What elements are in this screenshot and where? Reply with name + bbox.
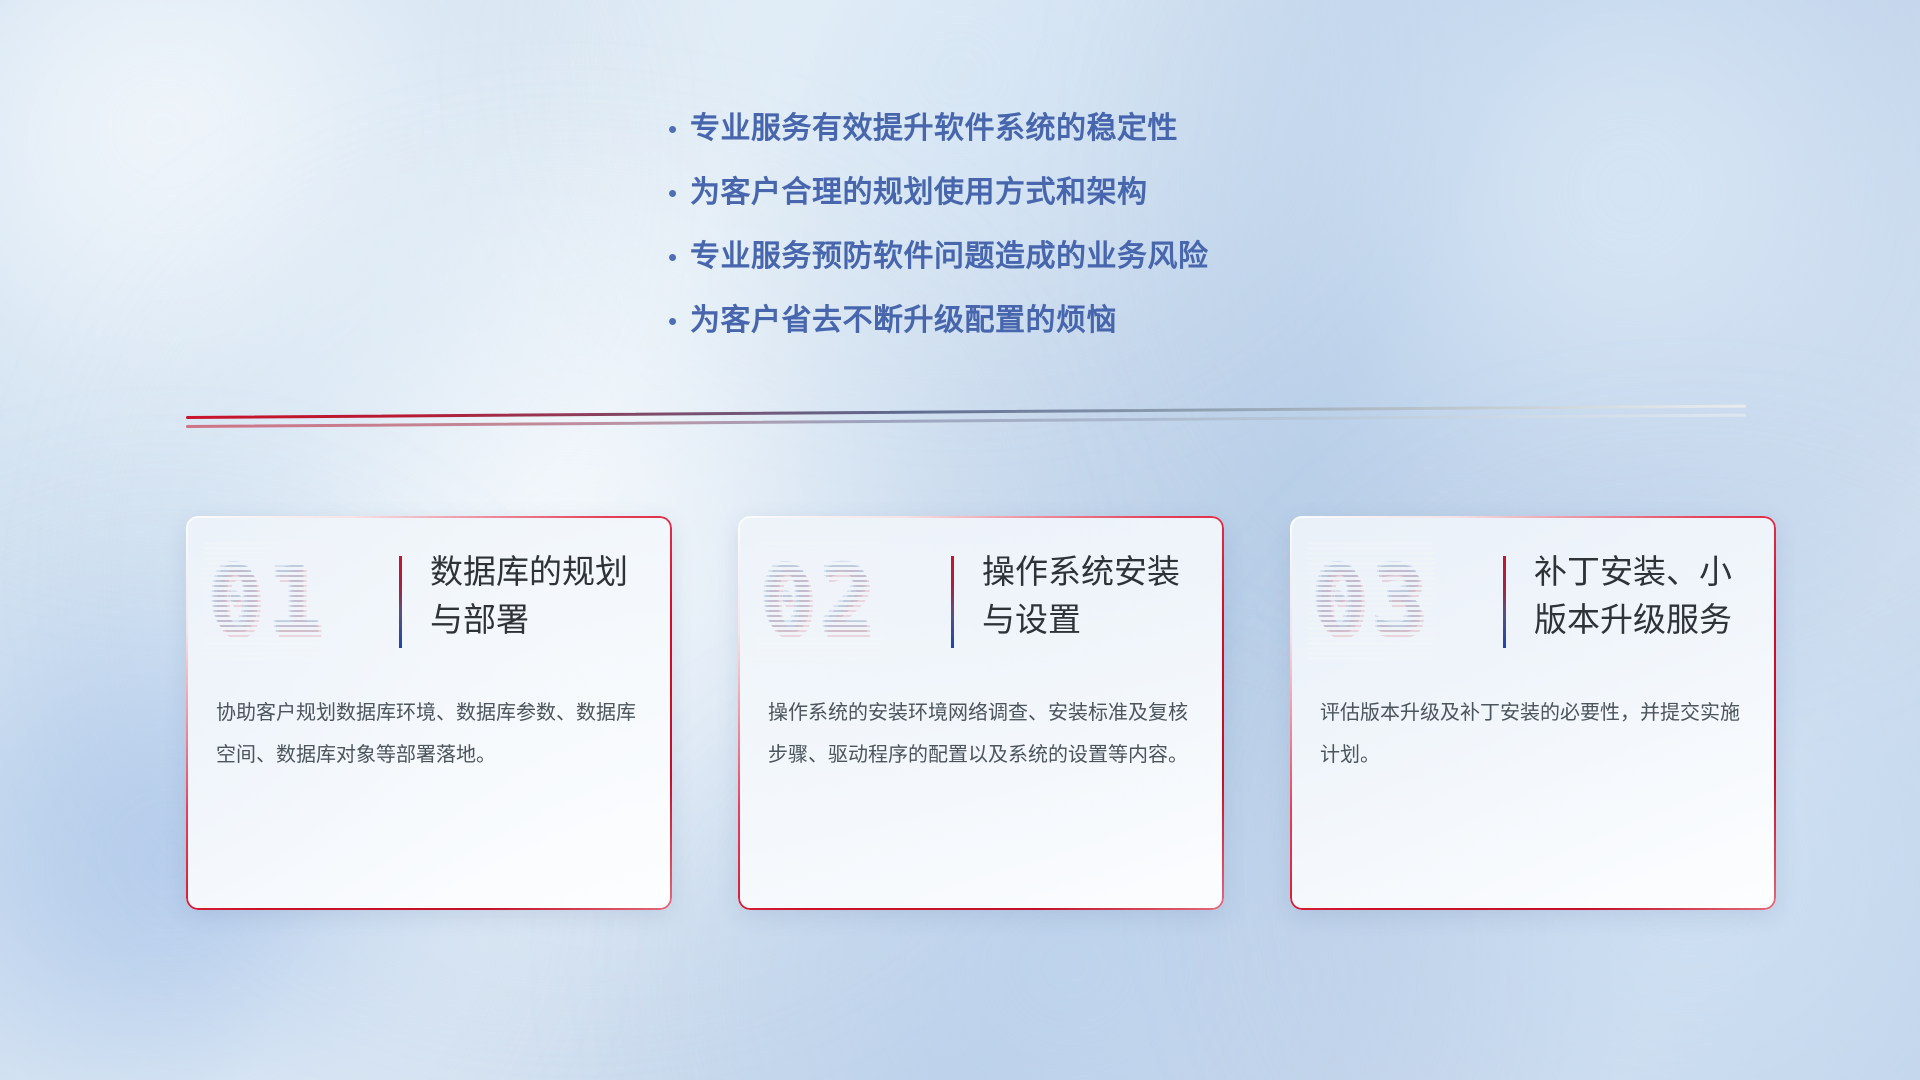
list-item: • 专业服务有效提升软件系统的稳定性 <box>668 112 1468 146</box>
card-number-03: 03 03 03 <box>1312 546 1431 656</box>
service-card-02[interactable]: 02 02 02 操作系统安装与设置 操作系统的安装环境网络调查、安装标准及复核… <box>738 516 1224 910</box>
card-title: 补丁安装、小版本升级服务 <box>1534 548 1760 644</box>
bullet-point-icon: • <box>668 240 690 274</box>
bullet-item-label: 专业服务预防软件问题造成的业务风险 <box>690 240 1209 274</box>
bullet-point-icon: • <box>668 112 690 146</box>
bullet-item-label: 为客户合理的规划使用方式和架构 <box>690 176 1148 210</box>
bullet-item-label: 为客户省去不断升级配置的烦恼 <box>690 304 1117 338</box>
card-title-separator <box>399 556 402 648</box>
card-title: 数据库的规划与部署 <box>430 548 656 644</box>
card-number-label: 01 <box>208 547 327 654</box>
benefits-bullet-list: • 专业服务有效提升软件系统的稳定性 • 为客户合理的规划使用方式和架构 • 专… <box>668 112 1468 368</box>
list-item: • 为客户合理的规划使用方式和架构 <box>668 176 1468 210</box>
card-header: 03 03 03 补丁安装、小版本升级服务 <box>1290 540 1776 670</box>
card-number-label: 02 <box>760 547 879 654</box>
bullet-item-label: 专业服务有效提升软件系统的稳定性 <box>690 112 1178 146</box>
bullet-point-icon: • <box>668 176 690 210</box>
card-number-01: 01 01 01 <box>208 546 327 656</box>
section-divider <box>186 416 1746 434</box>
card-header: 02 02 02 操作系统安装与设置 <box>738 540 1224 670</box>
card-description: 评估版本升级及补丁安装的必要性，并提交实施计划。 <box>1320 692 1750 776</box>
card-title-separator <box>951 556 954 648</box>
card-number-label: 03 <box>1312 547 1431 654</box>
card-number-02: 02 02 02 <box>760 546 879 656</box>
card-description: 操作系统的安装环境网络调查、安装标准及复核步骤、驱动程序的配置以及系统的设置等内… <box>768 692 1198 776</box>
card-description: 协助客户规划数据库环境、数据库参数、数据库空间、数据库对象等部署落地。 <box>216 692 646 776</box>
service-card-group: 01 01 01 数据库的规划与部署 协助客户规划数据库环境、数据库参数、数据库… <box>186 516 1734 926</box>
list-item: • 专业服务预防软件问题造成的业务风险 <box>668 240 1468 274</box>
card-header: 01 01 01 数据库的规划与部署 <box>186 540 672 670</box>
card-title-separator <box>1503 556 1506 648</box>
service-card-03[interactable]: 03 03 03 补丁安装、小版本升级服务 评估版本升级及补丁安装的必要性，并提… <box>1290 516 1776 910</box>
list-item: • 为客户省去不断升级配置的烦恼 <box>668 304 1468 338</box>
card-title: 操作系统安装与设置 <box>982 548 1208 644</box>
service-card-01[interactable]: 01 01 01 数据库的规划与部署 协助客户规划数据库环境、数据库参数、数据库… <box>186 516 672 910</box>
bullet-point-icon: • <box>668 304 690 338</box>
